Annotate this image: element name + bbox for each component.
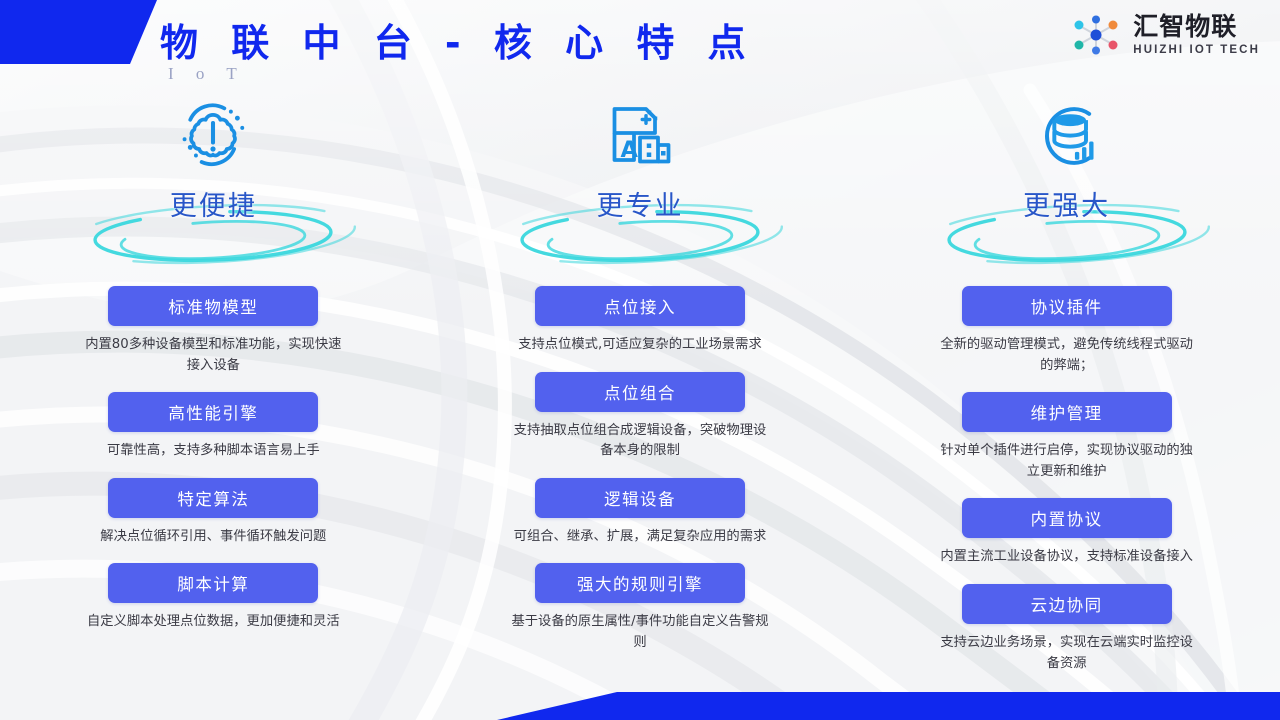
feature-description: 内置80多种设备模型和标准功能，实现快速接入设备 [82,335,344,376]
feature-item: 点位组合 支持抽取点位组合成逻辑设备，突破物理设备本身的限制 [427,372,854,462]
feature-label[interactable]: 高性能引擎 [108,392,318,432]
pillar-heading-convenient: 更便捷 [63,180,363,272]
brain-gear-icon [174,98,252,174]
pillar-heading-professional: 更专业 [490,180,790,272]
pillar-title: 更便捷 [170,184,257,223]
feature-description: 支持云边业务场景，实现在云端实时监控设备资源 [936,633,1198,674]
feature-label[interactable]: 维护管理 [962,392,1172,432]
logo-english-name: HUIZHI IOT TECH [1133,45,1260,57]
feature-description: 自定义脚本处理点位数据，更加便捷和灵活 [82,612,344,633]
document-grade-icon: A [604,98,676,174]
svg-text:A: A [621,137,639,163]
feature-list: 协议插件 全新的驱动管理模式，避免传统线程式驱动的弊端； 维护管理 针对单个插件… [853,286,1280,674]
feature-item: 协议插件 全新的驱动管理模式，避免传统线程式驱动的弊端； [853,286,1280,376]
pillar-title: 更专业 [597,184,684,223]
pillar-title: 更强大 [1023,184,1110,223]
feature-label[interactable]: 云边协同 [962,584,1172,624]
feature-item: 脚本计算 自定义脚本处理点位数据，更加便捷和灵活 [0,563,427,633]
pillar-columns: 更便捷 标准物模型 内置80多种设备模型和标准功能，实现快速接入设备 高性能引擎… [0,88,1280,698]
feature-label[interactable]: 内置协议 [962,498,1172,538]
feature-label[interactable]: 点位接入 [535,286,745,326]
feature-description: 基于设备的原生属性/事件功能自定义告警规则 [509,612,771,653]
feature-item: 点位接入 支持点位模式,可适应复杂的工业场景需求 [427,286,854,356]
feature-label[interactable]: 标准物模型 [108,286,318,326]
feature-item: 逻辑设备 可组合、继承、扩展，满足复杂应用的需求 [427,478,854,548]
feature-item: 高性能引擎 可靠性高，支持多种脚本语言易上手 [0,392,427,462]
feature-list: 标准物模型 内置80多种设备模型和标准功能，实现快速接入设备 高性能引擎 可靠性… [0,286,427,633]
feature-item: 内置协议 内置主流工业设备协议，支持标准设备接入 [853,498,1280,568]
molecule-logo-icon [1068,14,1124,56]
feature-list: 点位接入 支持点位模式,可适应复杂的工业场景需求 点位组合 支持抽取点位组合成逻… [427,286,854,654]
slide-header: 物 联 中 台 - 核 心 特 点 I o T 汇智物联 [0,0,1280,90]
feature-description: 全新的驱动管理模式，避免传统线程式驱动的弊端； [936,335,1198,376]
feature-label[interactable]: 脚本计算 [108,563,318,603]
feature-item: 特定算法 解决点位循环引用、事件循环触发问题 [0,478,427,548]
pillar-column-convenient: 更便捷 标准物模型 内置80多种设备模型和标准功能，实现快速接入设备 高性能引擎… [0,88,427,698]
page-title: 物 联 中 台 - 核 心 特 点 [160,12,756,67]
pillar-column-powerful: 更强大 协议插件 全新的驱动管理模式，避免传统线程式驱动的弊端； 维护管理 针对… [853,88,1280,698]
feature-label[interactable]: 逻辑设备 [535,478,745,518]
feature-label[interactable]: 特定算法 [108,478,318,518]
feature-label[interactable]: 协议插件 [962,286,1172,326]
pillar-column-professional: A [427,88,854,698]
slide-canvas: 物 联 中 台 - 核 心 特 点 I o T 汇智物联 [0,0,1280,720]
feature-description: 可组合、继承、扩展，满足复杂应用的需求 [509,527,771,548]
feature-label[interactable]: 点位组合 [535,372,745,412]
feature-description: 针对单个插件进行启停，实现协议驱动的独立更新和维护 [936,441,1198,482]
page-subtitle: I o T [168,64,246,84]
logo-chinese-name: 汇智物联 [1133,14,1260,39]
feature-item: 标准物模型 内置80多种设备模型和标准功能，实现快速接入设备 [0,286,427,376]
pillar-heading-powerful: 更强大 [917,180,1217,272]
feature-label[interactable]: 强大的规则引擎 [535,563,745,603]
feature-description: 支持抽取点位组合成逻辑设备，突破物理设备本身的限制 [509,421,771,462]
feature-description: 内置主流工业设备协议，支持标准设备接入 [936,547,1198,568]
feature-item: 维护管理 针对单个插件进行启停，实现协议驱动的独立更新和维护 [853,392,1280,482]
feature-item: 强大的规则引擎 基于设备的原生属性/事件功能自定义告警规则 [427,563,854,653]
feature-description: 可靠性高，支持多种脚本语言易上手 [82,441,344,462]
company-logo: 汇智物联 HUIZHI IOT TECH [1068,14,1260,57]
feature-item: 云边协同 支持云边业务场景，实现在云端实时监控设备资源 [853,584,1280,674]
feature-description: 支持点位模式,可适应复杂的工业场景需求 [509,335,771,356]
feature-description: 解决点位循环引用、事件循环触发问题 [82,527,344,548]
database-chart-icon [1029,98,1105,174]
